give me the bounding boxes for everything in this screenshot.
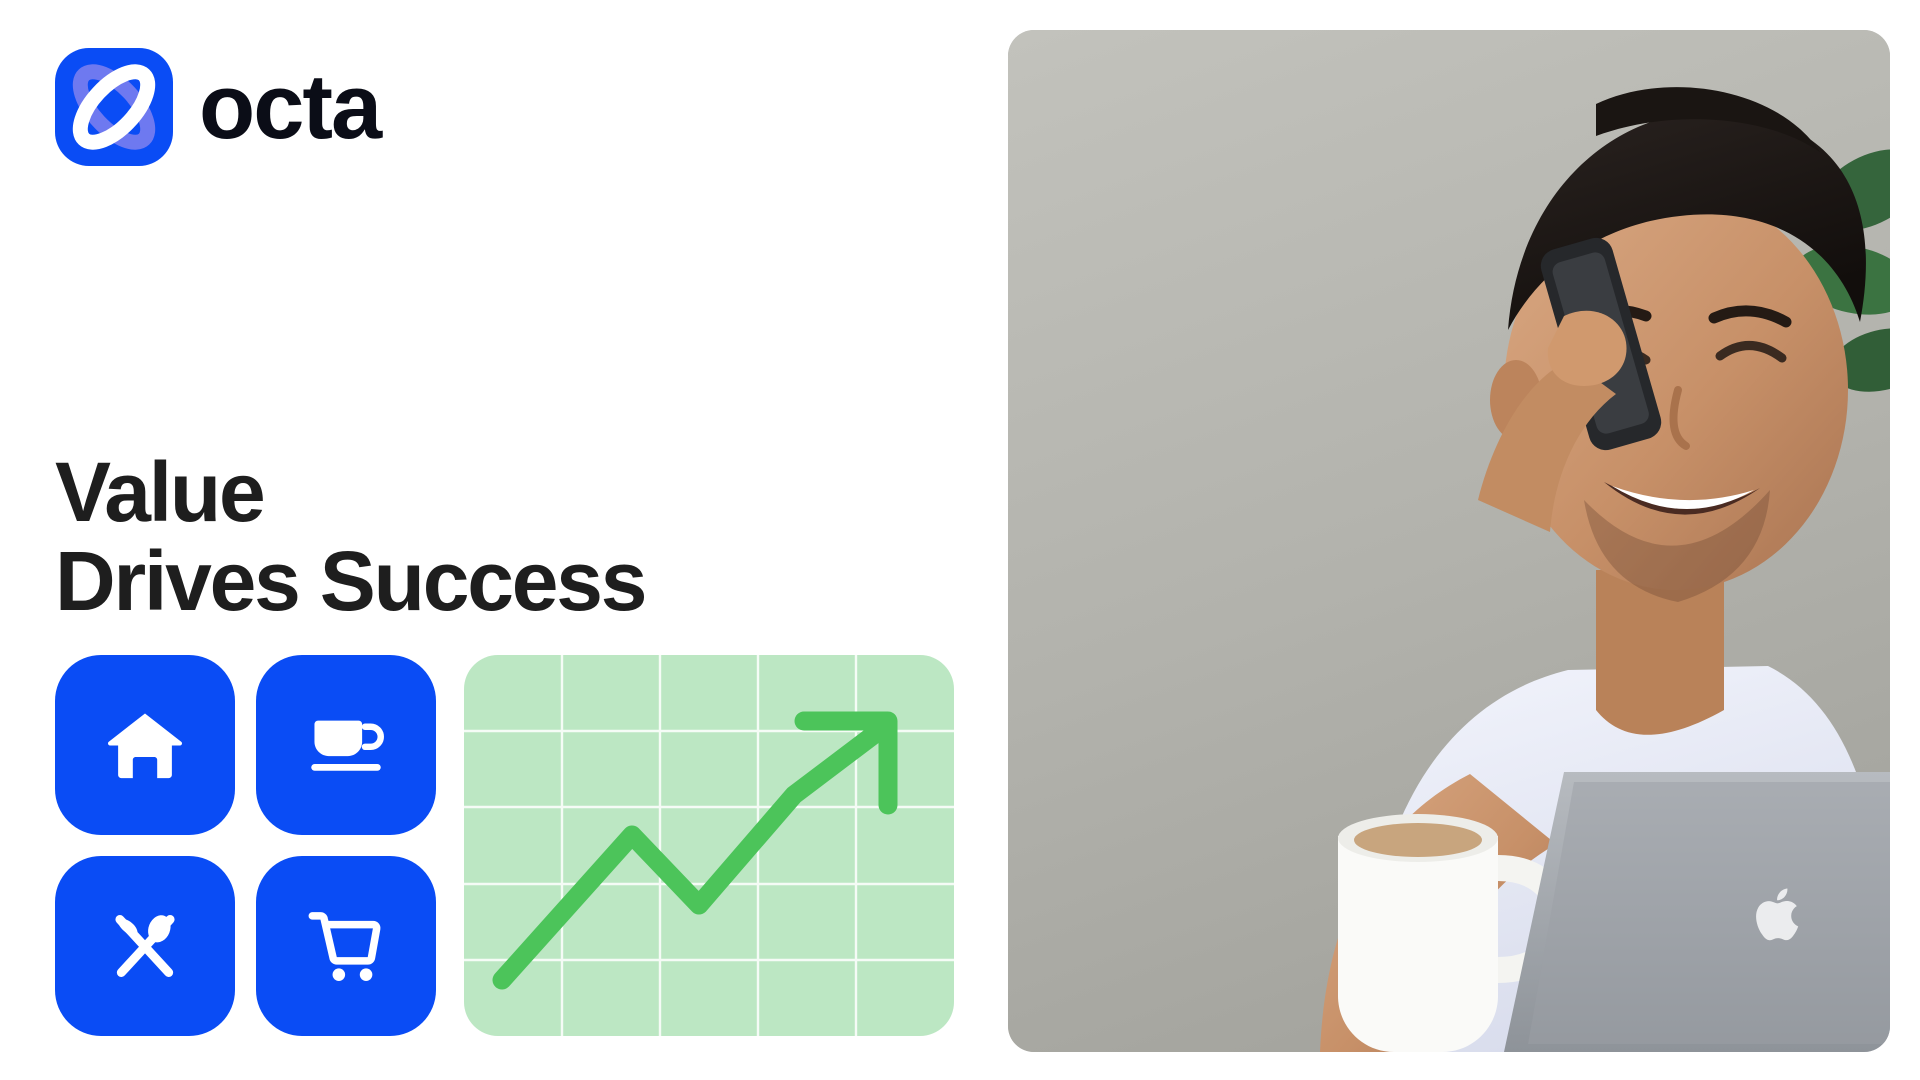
headline-line-2: Drives Success <box>55 537 915 626</box>
tile-cafe[interactable] <box>256 655 436 835</box>
octa-orbit-mark-icon <box>55 48 173 166</box>
shopping-cart-icon <box>303 903 389 989</box>
tile-restaurant[interactable] <box>55 856 235 1036</box>
page-title: Value Drives Success <box>55 448 915 626</box>
chart-trend-line <box>502 727 884 980</box>
hero-photo-illustration <box>1008 30 1890 1052</box>
poster-canvas: octa Value Drives Success <box>0 0 1920 1080</box>
cutlery-icon <box>102 903 188 989</box>
laptop <box>1504 772 1890 1052</box>
growth-chart-card <box>464 655 954 1036</box>
headline-line-1: Value <box>55 448 915 537</box>
brand-logo[interactable]: octa <box>55 48 380 166</box>
growth-chart <box>464 655 954 1036</box>
category-tile-grid <box>55 655 436 1036</box>
brand-wordmark: octa <box>199 61 380 153</box>
tile-retail[interactable] <box>256 856 436 1036</box>
showcase-row <box>55 655 954 1036</box>
home-icon <box>102 702 188 788</box>
coffee-cup-icon <box>303 702 389 788</box>
left-content-panel: octa Value Drives Success <box>0 0 1000 1080</box>
tile-home[interactable] <box>55 655 235 835</box>
hero-photo <box>1008 30 1890 1052</box>
